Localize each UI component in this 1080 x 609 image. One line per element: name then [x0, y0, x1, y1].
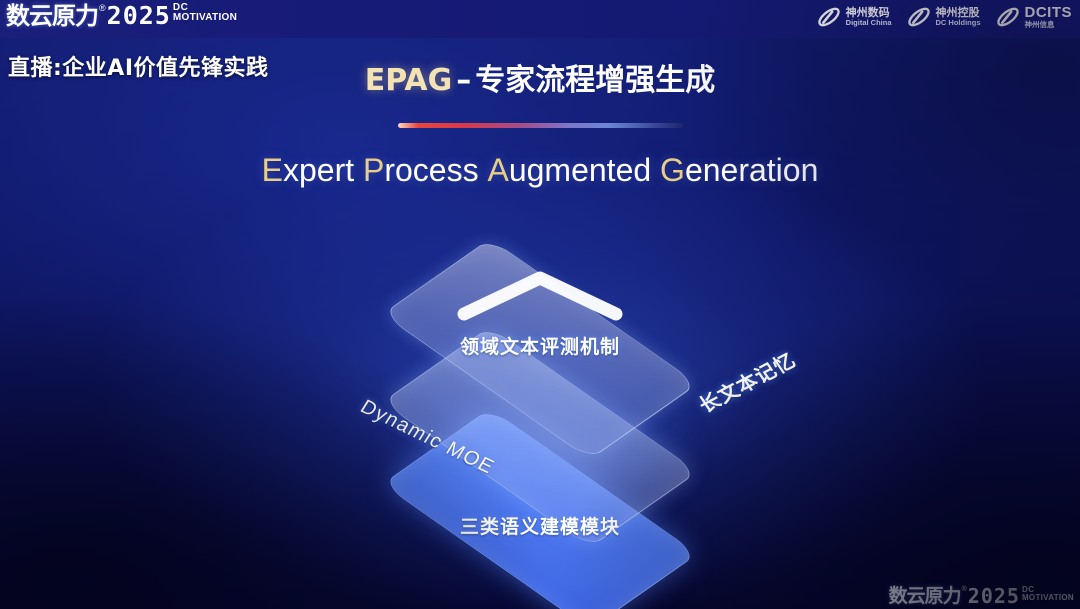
slide-subtitle: Expert Process Augmented Generation [0, 152, 1080, 189]
subtitle-rest-expert: xpert [283, 152, 354, 188]
partner-name-en: 神州信息 [1025, 21, 1073, 29]
layered-architecture-diagram: 领域文本评测机制 Dynamic MOE 长文本记忆 三类语义建模模块 [282, 228, 798, 568]
chevron-up-icon [450, 266, 630, 326]
brand-logo: 数云原力 ® 2025 DC MOTIVATION [6, 2, 237, 30]
layer-label-top: 领域文本评测机制 [282, 332, 798, 359]
subtitle-rest-process: rocess [384, 152, 478, 188]
title-chinese: 专家流程增强生成 [475, 63, 715, 98]
title-acronym: EPAG [365, 63, 453, 98]
partner-name-cn: DCITS [1025, 5, 1073, 21]
partner-logo-digital-china: 神州数码 Digital China [816, 4, 892, 30]
subtitle-rest-augmented: ugmented [509, 152, 651, 188]
subtitle-cap-e: E [262, 152, 283, 188]
subtitle-cap-a: A [487, 152, 508, 188]
partner-text: 神州数码 Digital China [846, 7, 892, 26]
watermark-registered-mark: ® [962, 585, 967, 595]
partner-name-en: DC Holdings [936, 19, 981, 27]
watermark-dc-line2: MOTIVATION [1022, 594, 1074, 602]
presentation-slide: 数云原力 ® 2025 DC MOTIVATION 直播:企业AI价值先锋实践 … [0, 0, 1080, 609]
partner-text: DCITS 神州信息 [1025, 5, 1073, 29]
swoosh-icon [995, 4, 1021, 30]
subtitle-cap-g: G [660, 152, 685, 188]
partner-text: 神州控股 DC Holdings [936, 7, 981, 26]
subtitle-cap-p: P [363, 152, 384, 188]
title-dash: – [452, 63, 475, 98]
brand-year: 2025 [107, 2, 171, 30]
brand-dc-motivation: DC MOTIVATION [173, 3, 237, 23]
subtitle-rest-generation: eneration [685, 152, 818, 188]
watermark-year: 2025 [968, 585, 1020, 607]
brand-name-cn: 数云原力 [6, 2, 98, 30]
partner-logo-dcits: DCITS 神州信息 [995, 4, 1073, 30]
watermark-name-cn: 数云原力 [889, 585, 961, 607]
brand-watermark: 数云原力 ® 2025 DC MOTIVATION [889, 585, 1074, 607]
layer-label-bottom: 三类语义建模模块 [282, 512, 798, 539]
partner-logo-dc-holdings: 神州控股 DC Holdings [906, 4, 981, 30]
partner-name-en: Digital China [846, 19, 892, 27]
gradient-divider [398, 123, 684, 128]
swoosh-icon [816, 4, 842, 30]
registered-mark: ® [99, 2, 106, 15]
brand-dc-line2: MOTIVATION [173, 13, 237, 23]
slide-title: EPAG–专家流程增强生成 [0, 55, 1080, 99]
partner-logos: 神州数码 Digital China 神州控股 DC Holdings DCIT… [816, 4, 1072, 30]
swoosh-icon [906, 4, 932, 30]
watermark-dc-motivation: DC MOTIVATION [1022, 586, 1074, 602]
